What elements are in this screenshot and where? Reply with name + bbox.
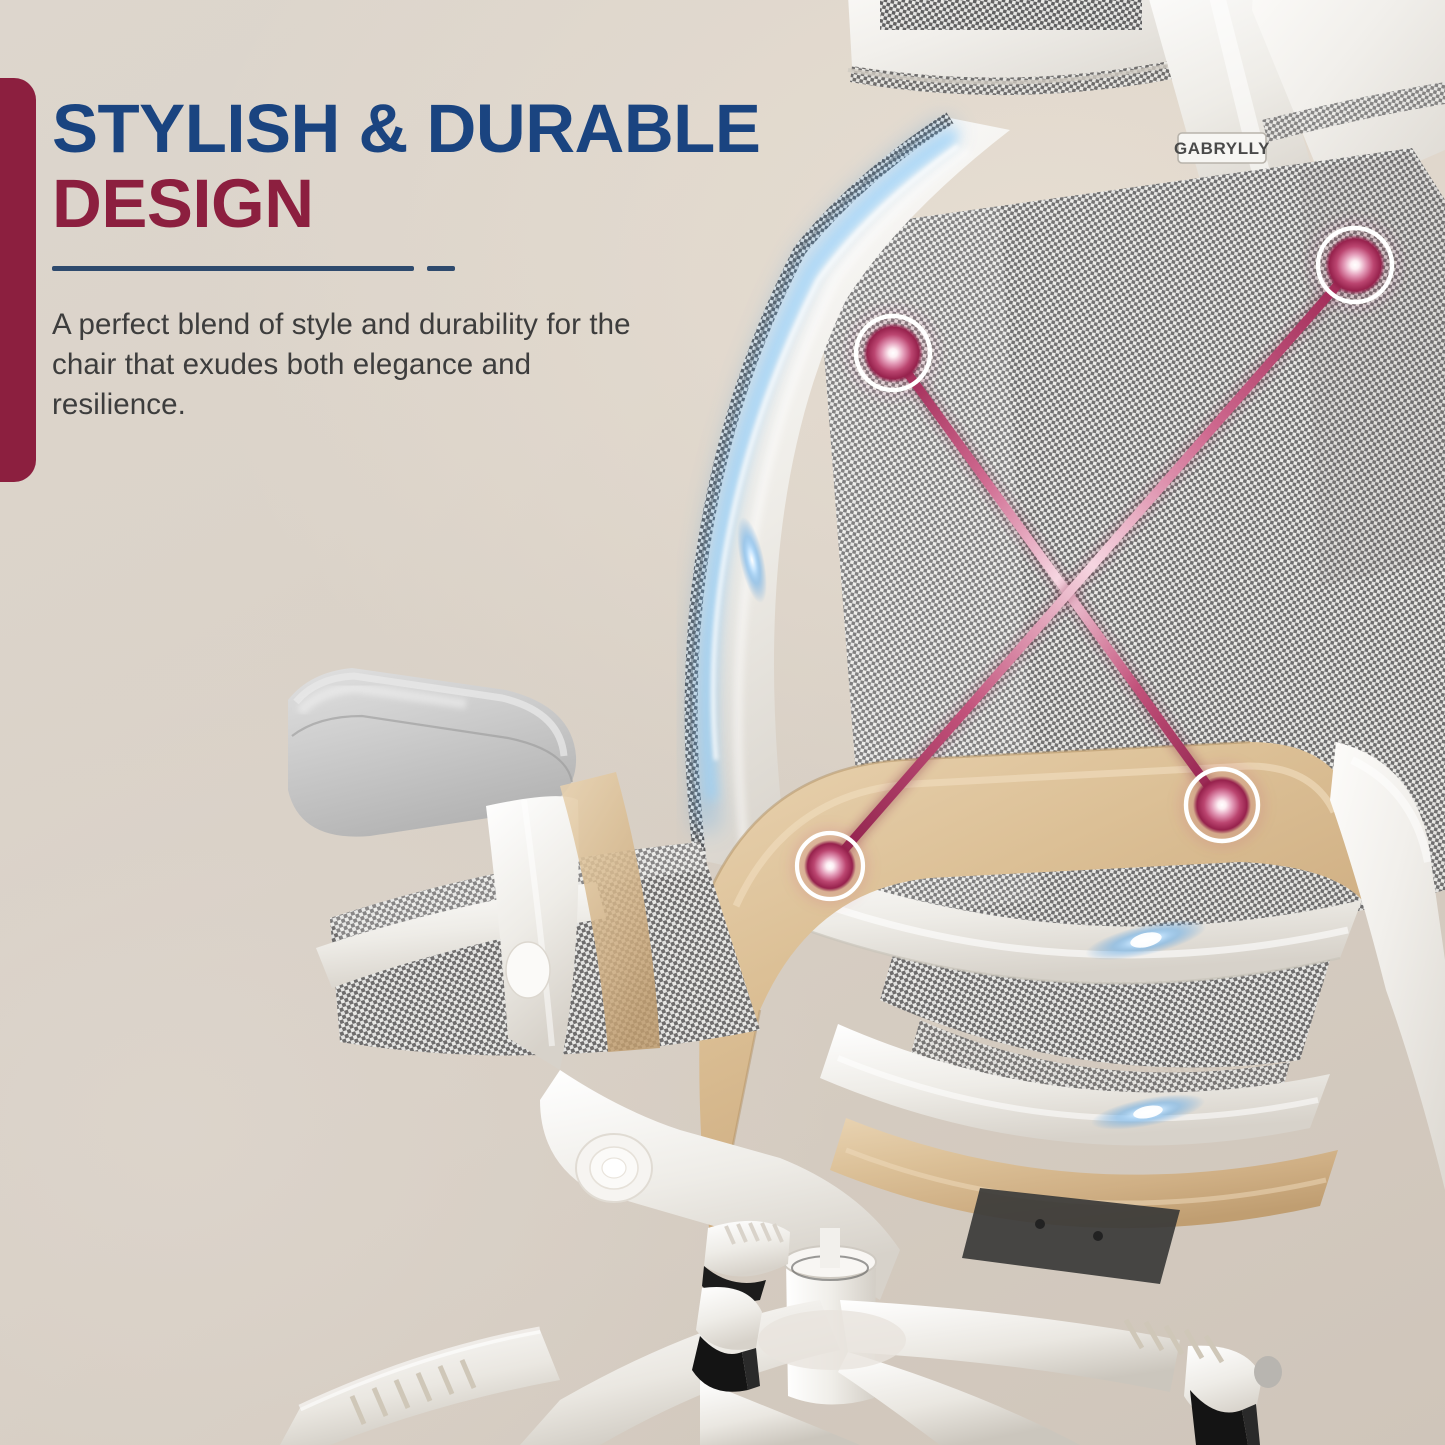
- svg-text:GABRYLLY: GABRYLLY: [1174, 139, 1270, 158]
- headrest: [846, 0, 1180, 95]
- divider-short-dash: [427, 266, 455, 271]
- subtitle-text: A perfect blend of style and durability …: [52, 305, 672, 424]
- base-arm-left: [280, 1330, 560, 1445]
- caster-wheel-left: [692, 1287, 762, 1392]
- left-accent-bar: [0, 78, 36, 482]
- headline-block: STYLISH & DURABLE DESIGN A perfect blend…: [52, 96, 672, 424]
- headline-line-1: STYLISH & DURABLE: [52, 96, 672, 162]
- headline-line-2: DESIGN: [52, 168, 672, 240]
- promo-banner: GABRYLLY: [0, 0, 1445, 1445]
- divider-long-dash: [52, 266, 414, 271]
- chair-base: [520, 1300, 1180, 1445]
- headline-divider: [52, 266, 672, 271]
